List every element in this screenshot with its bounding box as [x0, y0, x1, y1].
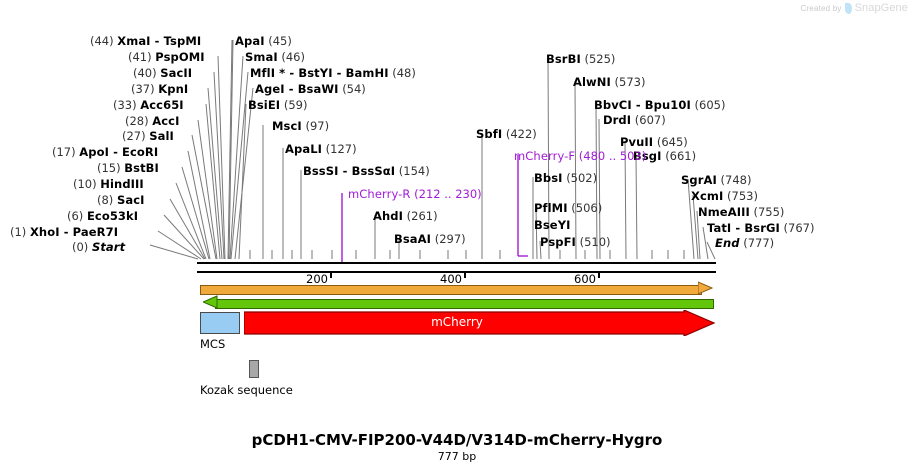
enzyme-name: MscI [272, 119, 302, 133]
enzyme-label[interactable]: (33) Acc65I [113, 99, 184, 111]
enzyme-name: BsrBI [546, 52, 581, 66]
enzyme-label[interactable]: SgrAI (748) [681, 174, 751, 186]
enzyme-position: (748) [721, 173, 752, 187]
enzyme-position: (10) [73, 177, 97, 191]
enzyme-label[interactable]: BseYI [534, 219, 571, 231]
primer-name: mCherry-R [348, 187, 411, 201]
enzyme-label[interactable]: PspFI (510) [540, 236, 611, 248]
enzyme-name: SbfI [476, 127, 502, 141]
start-marker-label[interactable]: (0) Start [72, 241, 125, 253]
enzyme-position: (28) [125, 114, 149, 128]
feature-kozak[interactable] [249, 360, 259, 378]
enzyme-position: (15) [97, 161, 121, 175]
feature-mcs-label: MCS [200, 337, 225, 351]
enzyme-label[interactable]: MscI (97) [272, 120, 329, 132]
start-label: Start [92, 240, 125, 254]
enzyme-position: (1) [10, 225, 26, 239]
feature-mcherry-label: mCherry [0, 315, 914, 329]
enzyme-position: (767) [784, 221, 815, 235]
enzyme-label[interactable]: BssSI - BssSαI (154) [303, 165, 430, 177]
enzyme-position: (6) [67, 209, 83, 223]
enzyme-name: Acc65I [140, 98, 183, 112]
enzyme-name: BsiEI [248, 98, 280, 112]
enzyme-label[interactable]: (8) SacI [97, 194, 145, 206]
enzyme-label[interactable]: (40) SacII [133, 67, 192, 79]
enzyme-position: (46) [281, 50, 305, 64]
enzyme-name: AhdI [373, 209, 403, 223]
enzyme-label[interactable]: PvuII (645) [620, 136, 688, 148]
enzyme-name: SgrAI [681, 173, 717, 187]
snapgene-drop-icon [845, 3, 852, 14]
page-subtitle: 777 bp [0, 450, 914, 463]
enzyme-label[interactable]: BbvCI - Bpu10I (605) [594, 99, 725, 111]
enzyme-label[interactable]: (15) BstBI [97, 162, 159, 174]
enzyme-name: ApaI [235, 34, 265, 48]
enzyme-name: TatI - BsrGI [707, 221, 780, 235]
enzyme-label[interactable]: SbfI (422) [476, 128, 537, 140]
enzyme-position: (510) [580, 235, 611, 249]
ruler-tick-label: 600 [574, 272, 598, 286]
enzyme-name: HindIII [100, 177, 144, 191]
enzyme-name: XhoI - PaeR7I [30, 225, 118, 239]
enzyme-label[interactable]: BsaAI (297) [394, 233, 466, 245]
enzyme-label[interactable]: (17) ApoI - EcoRI [52, 146, 158, 158]
enzyme-label[interactable]: (27) SalI [122, 130, 174, 142]
enzyme-name: KpnI [158, 82, 188, 96]
end-marker-label[interactable]: End (777) [715, 237, 774, 249]
enzyme-position: (661) [665, 149, 696, 163]
enzyme-position: (755) [754, 205, 785, 219]
enzyme-position: (45) [268, 34, 292, 48]
enzyme-name: XcmI [691, 189, 723, 203]
enzyme-position: (33) [113, 98, 137, 112]
enzyme-label[interactable]: AgeI - BsaWI (54) [255, 83, 366, 95]
enzyme-position: (502) [566, 171, 597, 185]
reverse-arrowhead-icon [203, 295, 219, 311]
watermark-brand: SnapGene [855, 2, 908, 14]
enzyme-label[interactable]: (44) XmaI - TspMI [90, 35, 201, 47]
enzyme-name: XmaI - TspMI [117, 34, 201, 48]
enzyme-label[interactable]: XcmI (753) [691, 190, 758, 202]
enzyme-label[interactable]: (41) PspOMI [128, 51, 205, 63]
enzyme-label[interactable]: (37) KpnI [131, 83, 188, 95]
primer-range: (480 .. 503) [579, 149, 647, 163]
enzyme-position: (54) [342, 82, 366, 96]
enzyme-position: (573) [615, 75, 646, 89]
enzyme-position: (8) [97, 193, 113, 207]
enzyme-name: MflI * - BstYI - BamHI [250, 66, 389, 80]
end-position: (777) [743, 236, 774, 250]
enzyme-name: PspFI [540, 235, 576, 249]
enzyme-position: (422) [506, 127, 537, 141]
enzyme-name: SacI [117, 193, 145, 207]
enzyme-name: SacII [160, 66, 192, 80]
enzyme-label[interactable]: TatI - BsrGI (767) [707, 222, 814, 234]
translation-forward-arrow[interactable] [200, 285, 702, 295]
enzyme-label[interactable]: AlwNI (573) [573, 76, 645, 88]
primer-range: (212 .. 230) [414, 187, 482, 201]
enzyme-label[interactable]: ApaLI (127) [285, 143, 357, 155]
enzyme-position: (607) [635, 113, 666, 127]
enzyme-name: BbsI [534, 171, 563, 185]
enzyme-position: (525) [584, 52, 615, 66]
enzyme-label[interactable]: MflI * - BstYI - BamHI (48) [250, 67, 416, 79]
ruler-tick-label: 200 [306, 272, 330, 286]
ruler-tick [330, 271, 332, 278]
enzyme-name: BseYI [534, 218, 571, 232]
enzyme-label[interactable]: BbsI (502) [534, 172, 597, 184]
primer-label-mcherry-f[interactable]: mCherry-F (480 .. 503) [514, 150, 646, 162]
translation-reverse-arrow[interactable] [215, 299, 714, 309]
feature-kozak-label: Kozak sequence [200, 383, 293, 397]
enzyme-label[interactable]: BsrBI (525) [546, 53, 615, 65]
enzyme-position: (48) [392, 66, 416, 80]
ruler-tick-label: 400 [440, 272, 464, 286]
page-title: pCDH1-CMV-FIP200-V44D/V314D-mCherry-Hygr… [0, 431, 914, 449]
enzyme-label[interactable]: BsiEI (59) [248, 99, 307, 111]
enzyme-name: AgeI - BsaWI [255, 82, 339, 96]
enzyme-position: (37) [131, 82, 155, 96]
enzyme-position: (645) [657, 135, 688, 149]
end-label: End [715, 236, 740, 250]
enzyme-position: (506) [571, 201, 602, 215]
ruler-tick [598, 271, 600, 278]
enzyme-label[interactable]: NmeAIII (755) [698, 206, 784, 218]
enzyme-position: (41) [128, 50, 152, 64]
enzyme-label[interactable]: ApaI (45) [235, 35, 292, 47]
watermark-created-by: Created by [800, 4, 841, 13]
enzyme-position: (753) [727, 189, 758, 203]
enzyme-name: AccI [152, 114, 179, 128]
enzyme-label[interactable]: (1) XhoI - PaeR7I [10, 226, 118, 238]
enzyme-position: (17) [52, 145, 76, 159]
enzyme-position: (605) [695, 98, 726, 112]
enzyme-label[interactable]: DrdI (607) [603, 114, 666, 126]
enzyme-position: (127) [326, 142, 357, 156]
enzyme-position: (154) [399, 164, 430, 178]
primer-name: mCherry-F [514, 149, 575, 163]
enzyme-position: (97) [305, 119, 329, 133]
enzyme-label[interactable]: PflMI (506) [534, 202, 602, 214]
enzyme-position: (27) [122, 129, 146, 143]
enzyme-label[interactable]: (28) AccI [125, 115, 179, 127]
enzyme-label[interactable]: (10) HindIII [73, 178, 144, 190]
enzyme-name: ApoI - EcoRI [79, 145, 158, 159]
enzyme-label[interactable]: SmaI (46) [245, 51, 305, 63]
snapgene-watermark: Created by SnapGene [800, 2, 908, 14]
enzyme-name: AlwNI [573, 75, 611, 89]
enzyme-name: SalI [149, 129, 174, 143]
enzyme-position: (261) [407, 209, 438, 223]
enzyme-name: BsaAI [394, 232, 431, 246]
enzyme-name: SmaI [245, 50, 278, 64]
enzyme-position: (297) [435, 232, 466, 246]
enzyme-name: BssSI - BssSαI [303, 164, 395, 178]
enzyme-name: PflMI [534, 201, 568, 215]
enzyme-position: (40) [133, 66, 157, 80]
enzyme-name: NmeAIII [698, 205, 750, 219]
enzyme-name: BbvCI - Bpu10I [594, 98, 691, 112]
enzyme-position: (59) [284, 98, 308, 112]
enzyme-name: DrdI [603, 113, 631, 127]
enzyme-name: Eco53kI [87, 209, 138, 223]
ruler-tick [464, 271, 466, 278]
forward-arrowhead-icon [698, 281, 714, 297]
enzyme-name: ApaLI [285, 142, 322, 156]
start-position: (0) [72, 240, 88, 254]
primer-label-mcherry-r[interactable]: mCherry-R (212 .. 230) [348, 188, 482, 200]
enzyme-label[interactable]: (6) Eco53kI [67, 210, 138, 222]
enzyme-name: BstBI [124, 161, 159, 175]
enzyme-name: PspOMI [155, 50, 204, 64]
enzyme-position: (44) [90, 34, 114, 48]
enzyme-label[interactable]: AhdI (261) [373, 210, 438, 222]
plasmid-map: Created by SnapGene [0, 0, 914, 471]
enzyme-name: PvuII [620, 135, 653, 149]
